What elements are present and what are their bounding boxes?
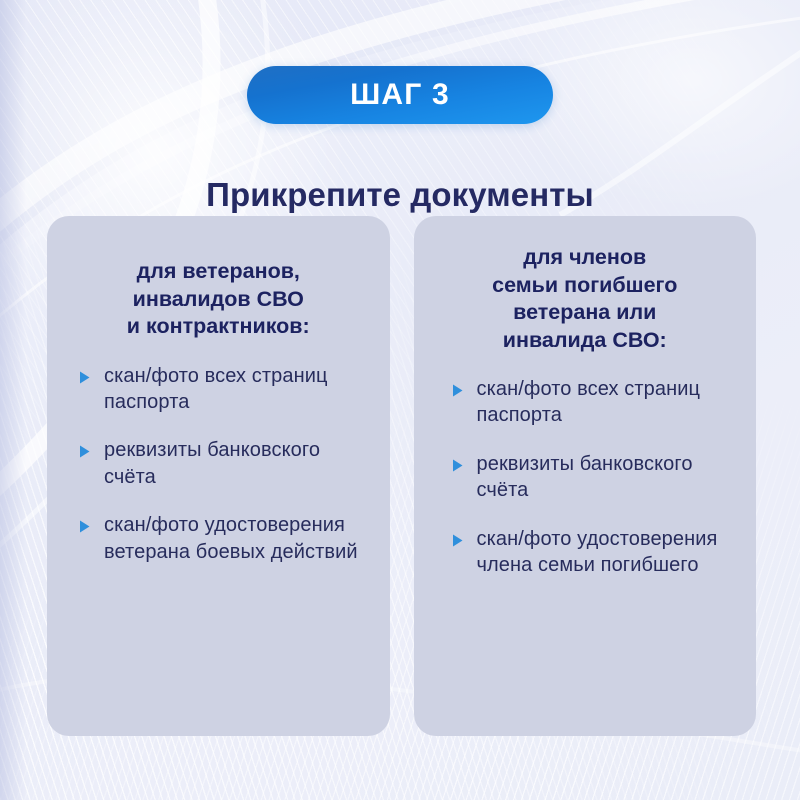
triangle-right-icon [450, 383, 465, 398]
triangle-right-icon [450, 533, 465, 548]
list-item: скан/фото удостоверения члена семьи поги… [450, 526, 735, 579]
list-item-label: реквизиты банковского счёта [104, 437, 368, 490]
card-veterans-title: для ветеранов, инвалидов СВО и контрактн… [69, 258, 368, 341]
background-edge-shade [0, 0, 26, 800]
document-requirements-cards: для ветеранов, инвалидов СВО и контрактн… [47, 216, 756, 736]
card-family-of-deceased: для членов семьи погибшего ветерана или … [414, 216, 757, 736]
list-item: скан/фото удостоверения ветерана боевых … [77, 512, 368, 565]
card-veterans-title-line-2: инвалидов СВО [133, 287, 304, 311]
card-veterans: для ветеранов, инвалидов СВО и контрактн… [47, 216, 390, 736]
list-item: реквизиты банковского счёта [77, 437, 368, 490]
list-item: скан/фото всех страниц паспорта [77, 363, 368, 416]
step-badge: ШАГ 3 [247, 66, 553, 124]
card-family-title: для членов семьи погибшего ветерана или … [436, 244, 735, 354]
card-family-list: скан/фото всех страниц паспорта реквизит… [436, 376, 735, 578]
triangle-right-icon [450, 458, 465, 473]
list-item-label: скан/фото всех страниц паспорта [477, 376, 735, 429]
card-family-title-line-2: семьи погибшего [492, 273, 677, 297]
triangle-right-icon [77, 370, 92, 385]
card-veterans-title-line-1: для ветеранов, [137, 259, 300, 283]
list-item-label: скан/фото удостоверения ветерана боевых … [104, 512, 368, 565]
list-item-label: реквизиты банковского счёта [477, 451, 735, 504]
card-family-title-line-3: ветерана или [513, 300, 656, 324]
card-veterans-title-line-3: и контрактников: [127, 314, 310, 338]
card-family-title-line-4: инвалида СВО: [503, 328, 667, 352]
triangle-right-icon [77, 519, 92, 534]
slide-root: ШАГ 3 Прикрепите документы для ветеранов… [0, 0, 800, 800]
card-veterans-list: скан/фото всех страниц паспорта реквизит… [69, 363, 368, 565]
page-title: Прикрепите документы [0, 177, 800, 213]
list-item-label: скан/фото удостоверения члена семьи поги… [477, 526, 735, 579]
list-item: реквизиты банковского счёта [450, 451, 735, 504]
list-item: скан/фото всех страниц паспорта [450, 376, 735, 429]
step-badge-label: ШАГ 3 [350, 80, 450, 110]
list-item-label: скан/фото всех страниц паспорта [104, 363, 368, 416]
card-family-title-line-1: для членов [523, 245, 646, 269]
triangle-right-icon [77, 444, 92, 459]
